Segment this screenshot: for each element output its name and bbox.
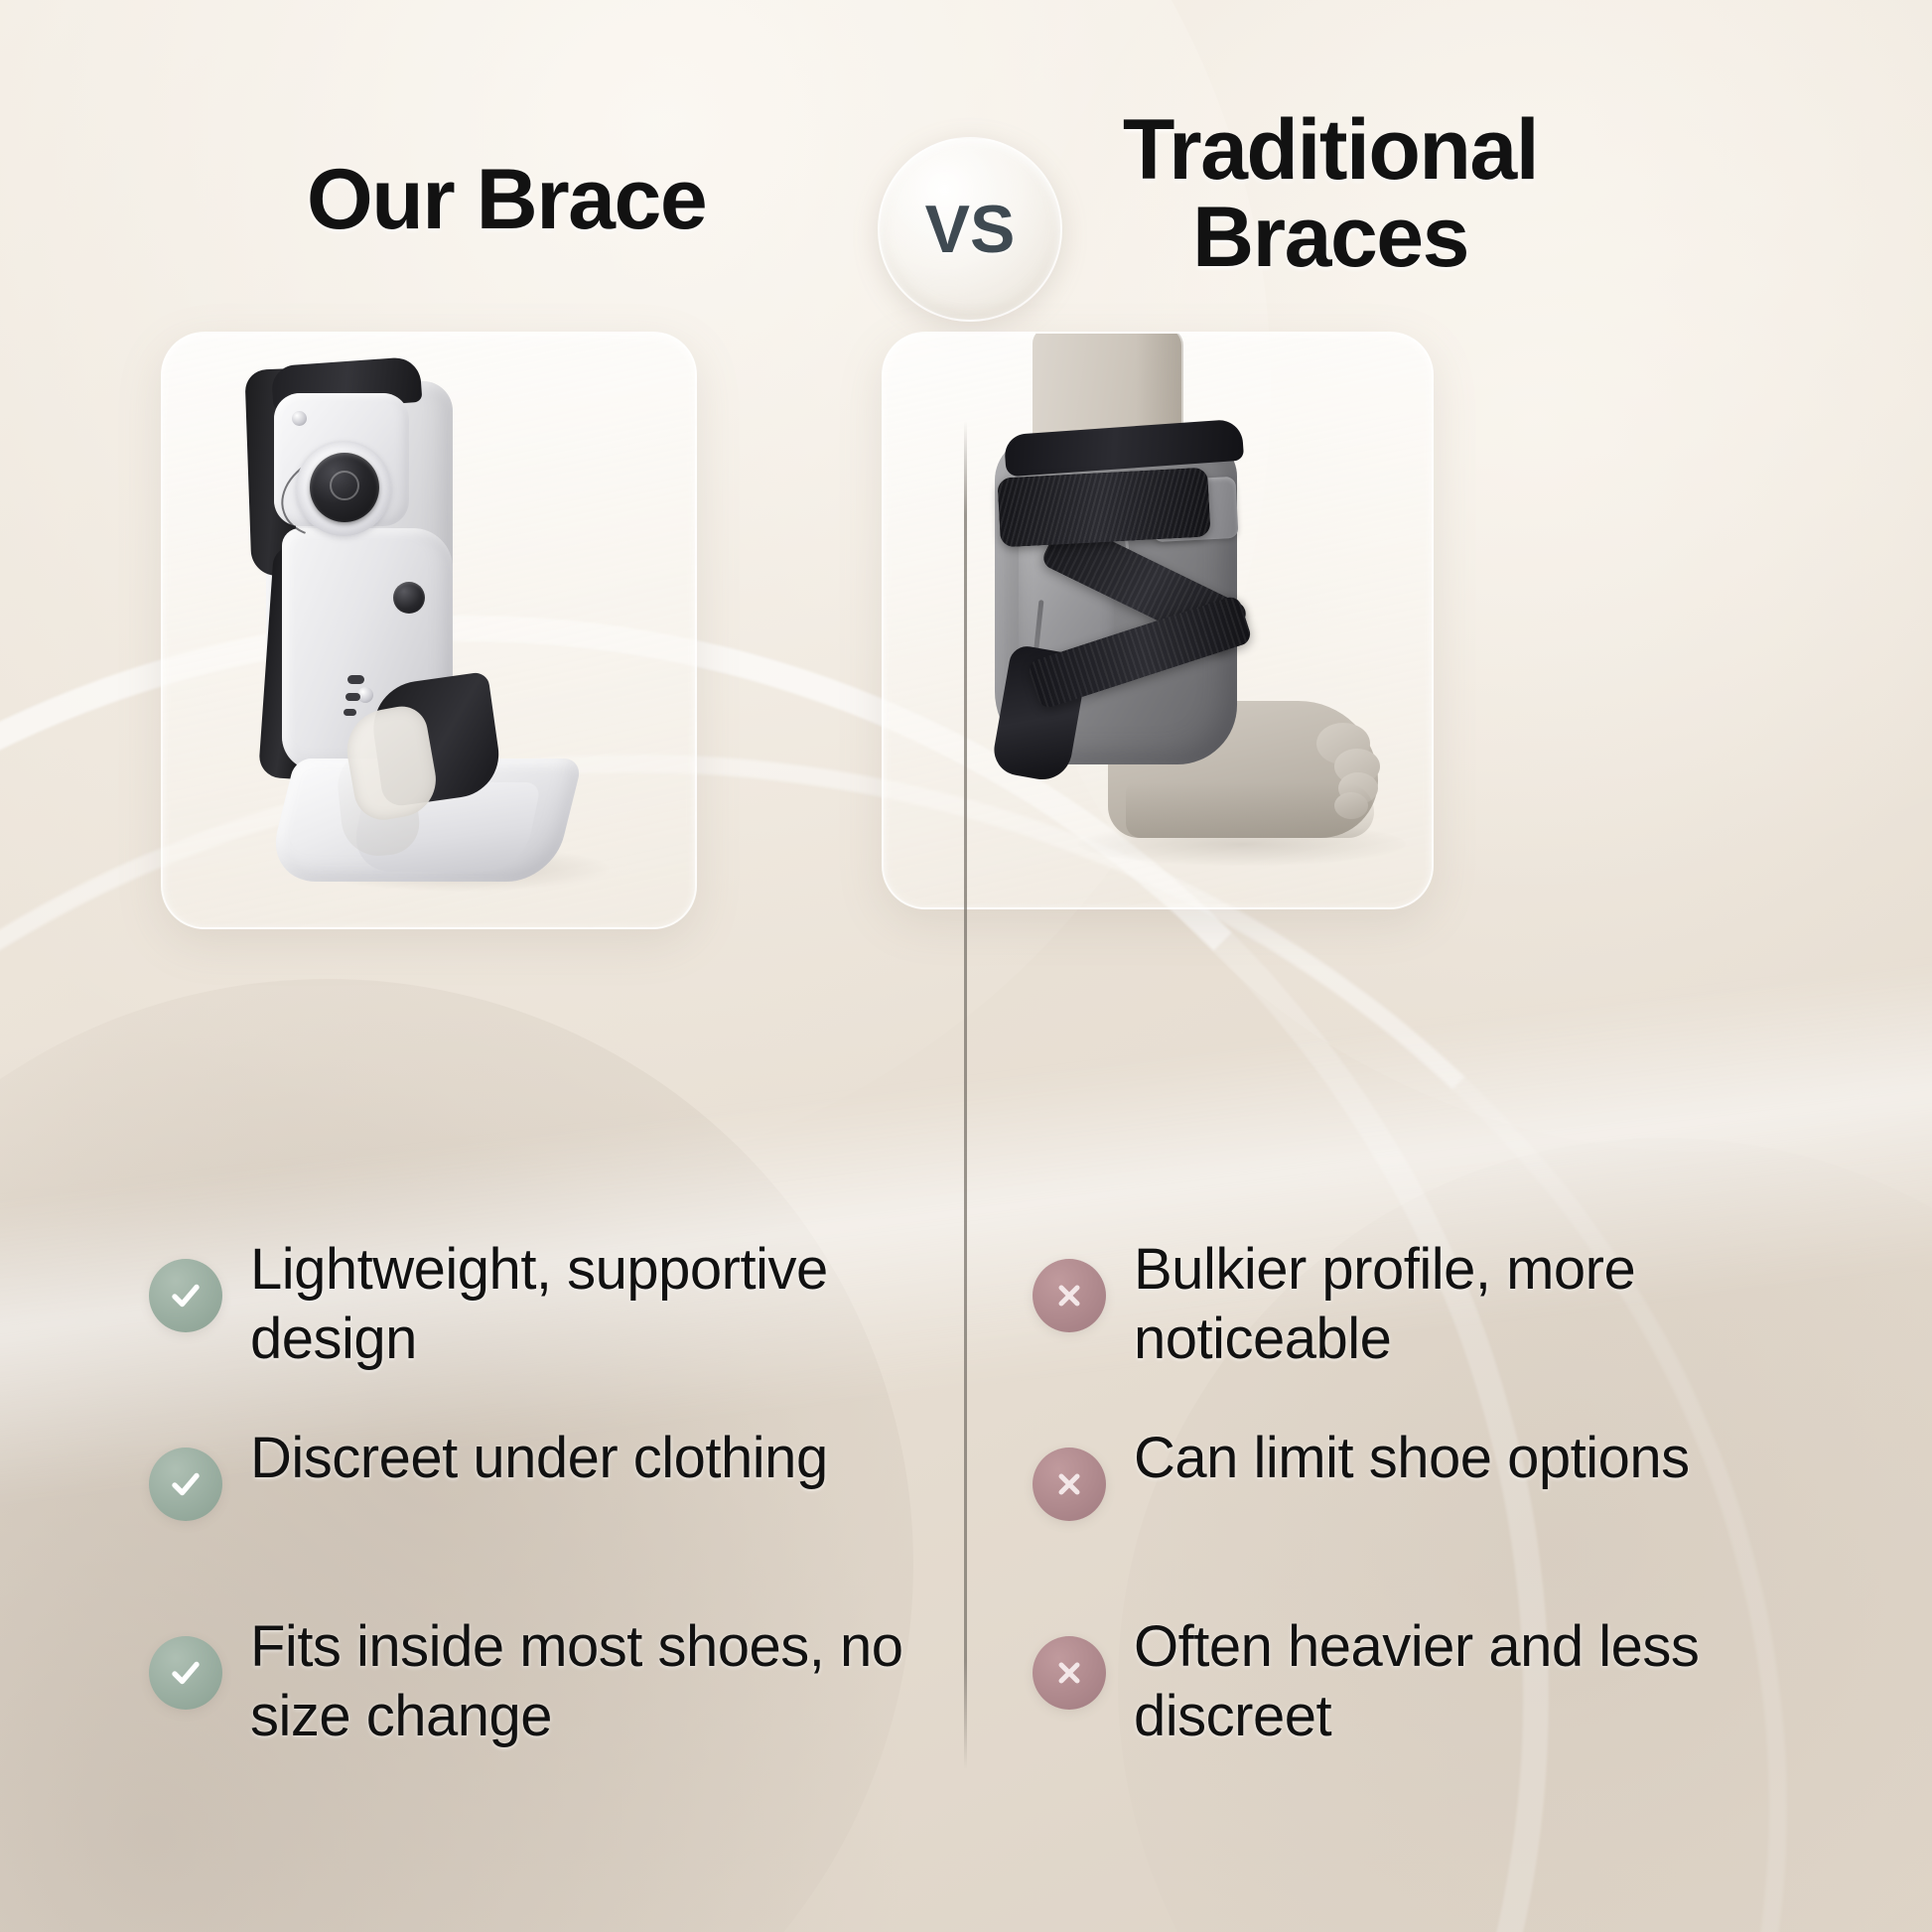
list-item: Bulkier profile, more noticeable (1033, 1223, 1817, 1390)
left-column-title: Our Brace (208, 157, 804, 244)
vs-label: VS (925, 191, 1016, 268)
column-divider (964, 421, 967, 1769)
list-item-label: Bulkier profile, more noticeable (1134, 1223, 1817, 1373)
left-benefits-list: Lightweight, supportive design Discreet … (149, 1223, 903, 1767)
list-item-label: Discreet under clothing (250, 1412, 828, 1493)
brace-vent-3 (344, 709, 356, 716)
check-circle-icon (149, 1636, 222, 1710)
brace-pivot-hinge (393, 582, 425, 614)
list-item-label: Fits inside most shoes, no size change (250, 1600, 903, 1750)
left-product-card (161, 332, 697, 929)
velcro-strap (997, 468, 1210, 548)
list-item: Lightweight, supportive design (149, 1223, 903, 1390)
list-item: Often heavier and less discreet (1033, 1600, 1817, 1767)
list-item-label: Lightweight, supportive design (250, 1223, 903, 1373)
list-item-label: Can limit shoe options (1134, 1412, 1690, 1493)
brace-rivet-top (292, 411, 307, 426)
brace-vent-1 (347, 675, 364, 684)
right-column-title: Traditional Braces (1023, 107, 1638, 281)
brace-vent-2 (345, 693, 360, 701)
header: Our Brace VS Traditional Braces (0, 0, 1932, 328)
check-circle-icon (149, 1259, 222, 1332)
right-drawbacks-list: Bulkier profile, more noticeable Can lim… (1033, 1223, 1817, 1767)
list-item: Fits inside most shoes, no size change (149, 1600, 903, 1767)
foot-shading (1126, 782, 1374, 838)
our-brace-product-image (163, 334, 695, 927)
cross-circle-icon (1033, 1448, 1106, 1521)
check-circle-icon (149, 1448, 222, 1521)
list-item: Discreet under clothing (149, 1412, 903, 1579)
cross-circle-icon (1033, 1636, 1106, 1710)
brace-dial-notch (330, 471, 359, 500)
list-item: Can limit shoe options (1033, 1412, 1817, 1579)
list-item-label: Often heavier and less discreet (1134, 1600, 1817, 1750)
cross-circle-icon (1033, 1259, 1106, 1332)
